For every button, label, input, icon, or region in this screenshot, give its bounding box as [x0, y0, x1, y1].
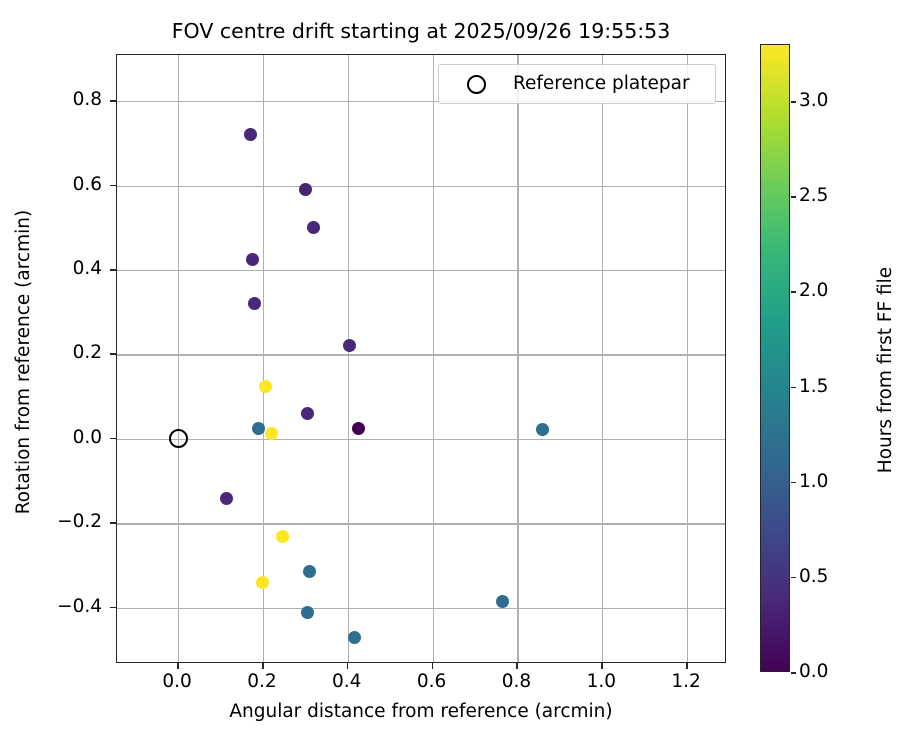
y-tick-label: 0.8 [73, 89, 102, 111]
x-tick-label: 0.4 [307, 671, 387, 693]
y-axis-label: Rotation from reference (arcmin) [12, 202, 36, 522]
legend-marker-cell [439, 75, 513, 94]
data-point[interactable] [303, 565, 316, 578]
y-tick-mark [110, 100, 116, 102]
gridline-vertical [517, 55, 518, 662]
colorbar-tick-label: 1.5 [799, 376, 828, 398]
y-tick-mark [110, 438, 116, 440]
y-tick-label: −0.2 [57, 511, 102, 533]
data-point[interactable] [248, 297, 261, 310]
y-tick-mark [110, 269, 116, 271]
gridline-vertical [602, 55, 603, 662]
x-tick-label: 1.0 [561, 671, 641, 693]
legend-box[interactable]: Reference platepar [438, 64, 716, 104]
data-point[interactable] [252, 422, 265, 435]
x-tick-mark [262, 663, 264, 669]
colorbar-tick-mark [791, 101, 796, 103]
gridline-horizontal [117, 270, 725, 271]
colorbar-tick-label: 0.0 [799, 661, 828, 683]
x-tick-mark [432, 663, 434, 669]
colorbar-tick-label: 3.0 [799, 90, 828, 112]
reference-platepar-marker[interactable] [169, 429, 188, 448]
colorbar-tick-mark [791, 672, 796, 674]
colorbar-label: Hours from first FF file [874, 210, 898, 530]
colorbar-tick-mark [791, 291, 796, 293]
x-tick-label: 0.6 [392, 671, 472, 693]
gridline-vertical [687, 55, 688, 662]
colorbar-gradient [761, 45, 789, 671]
x-tick-mark [177, 663, 179, 669]
data-point[interactable] [301, 606, 314, 619]
y-tick-label: 0.6 [73, 174, 102, 196]
y-tick-label: 0.2 [73, 342, 102, 364]
gridline-horizontal [117, 186, 725, 187]
y-tick-label: 0.0 [73, 427, 102, 449]
plot-axes[interactable] [116, 54, 726, 663]
x-tick-mark [347, 663, 349, 669]
data-point[interactable] [276, 530, 289, 543]
colorbar-tick-label: 2.0 [799, 280, 828, 302]
y-tick-mark [110, 607, 116, 609]
figure-canvas: FOV centre drift starting at 2025/09/26 … [0, 0, 900, 750]
data-point[interactable] [536, 423, 549, 436]
y-tick-label: 0.4 [73, 258, 102, 280]
x-tick-mark [516, 663, 518, 669]
gridline-vertical [178, 55, 179, 662]
colorbar-tick-label: 1.0 [799, 471, 828, 493]
x-tick-mark [686, 663, 688, 669]
y-tick-label: −0.4 [57, 596, 102, 618]
plot-inner-canvas [117, 55, 725, 662]
colorbar[interactable] [760, 44, 790, 672]
gridline-vertical [263, 55, 264, 662]
gridline-horizontal [117, 439, 725, 440]
colorbar-tick-label: 2.5 [799, 185, 828, 207]
reference-circle-icon [467, 75, 486, 94]
x-axis-label: Angular distance from reference (arcmin) [116, 700, 726, 724]
x-tick-label: 0.0 [137, 671, 217, 693]
data-point[interactable] [307, 221, 320, 234]
x-tick-label: 0.2 [222, 671, 302, 693]
data-point[interactable] [246, 253, 259, 266]
y-tick-mark [110, 185, 116, 187]
legend-entry-label: Reference platepar [513, 73, 690, 95]
gridline-vertical [348, 55, 349, 662]
data-point[interactable] [220, 492, 233, 505]
x-tick-label: 1.2 [646, 671, 726, 693]
y-tick-mark [110, 522, 116, 524]
colorbar-tick-mark [791, 577, 796, 579]
data-point[interactable] [352, 422, 365, 435]
data-point[interactable] [343, 339, 356, 352]
data-point[interactable] [244, 128, 257, 141]
colorbar-tick-mark [791, 387, 796, 389]
x-tick-label: 0.8 [476, 671, 556, 693]
data-point[interactable] [301, 407, 314, 420]
page-title: FOV centre drift starting at 2025/09/26 … [116, 18, 726, 44]
colorbar-tick-mark [791, 196, 796, 198]
data-point[interactable] [299, 183, 312, 196]
gridline-horizontal [117, 354, 725, 355]
x-tick-mark [601, 663, 603, 669]
y-tick-mark [110, 353, 116, 355]
gridline-vertical [433, 55, 434, 662]
data-point[interactable] [256, 576, 269, 589]
data-point[interactable] [496, 595, 509, 608]
gridline-horizontal [117, 608, 725, 609]
gridline-horizontal [117, 523, 725, 524]
colorbar-tick-label: 0.5 [799, 566, 828, 588]
data-point[interactable] [259, 380, 272, 393]
colorbar-tick-mark [791, 482, 796, 484]
data-point[interactable] [348, 631, 361, 644]
